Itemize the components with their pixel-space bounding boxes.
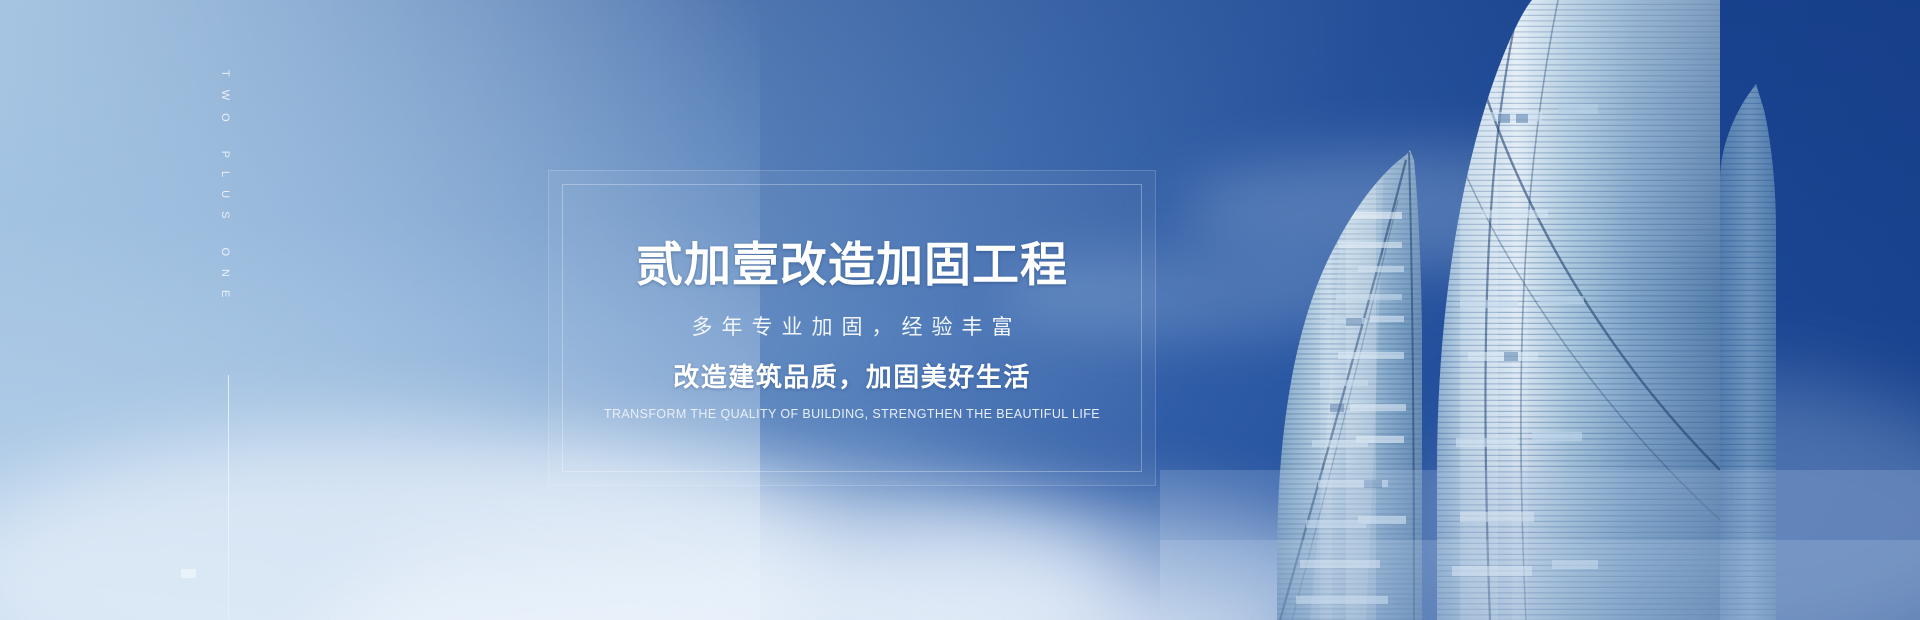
brand-corner-mark bbox=[181, 569, 196, 578]
brand-vertical-text: TWO PLUS ONE bbox=[219, 70, 231, 310]
hero-banner: TWO PLUS ONE 贰加壹改造加固工程 多年专业加固，经验丰富 改造建筑品… bbox=[0, 0, 1920, 620]
brand-divider-line bbox=[228, 375, 229, 620]
hero-text-panel: 贰加壹改造加固工程 多年专业加固，经验丰富 改造建筑品质，加固美好生活 TRAN… bbox=[548, 170, 1156, 486]
skyscraper-illustration bbox=[1160, 0, 1920, 620]
hero-tagline: 改造建筑品质，加固美好生活 bbox=[673, 364, 1031, 390]
hero-subline: 多年专业加固，经验丰富 bbox=[683, 317, 1022, 338]
brand-rail: TWO PLUS ONE bbox=[228, 0, 229, 620]
hero-english-slogan: TRANSFORM THE QUALITY OF BUILDING, STREN… bbox=[604, 408, 1100, 421]
hero-panel-content: 贰加壹改造加固工程 多年专业加固，经验丰富 改造建筑品质，加固美好生活 TRAN… bbox=[549, 171, 1155, 485]
hero-headline: 贰加壹改造加固工程 bbox=[636, 241, 1068, 288]
